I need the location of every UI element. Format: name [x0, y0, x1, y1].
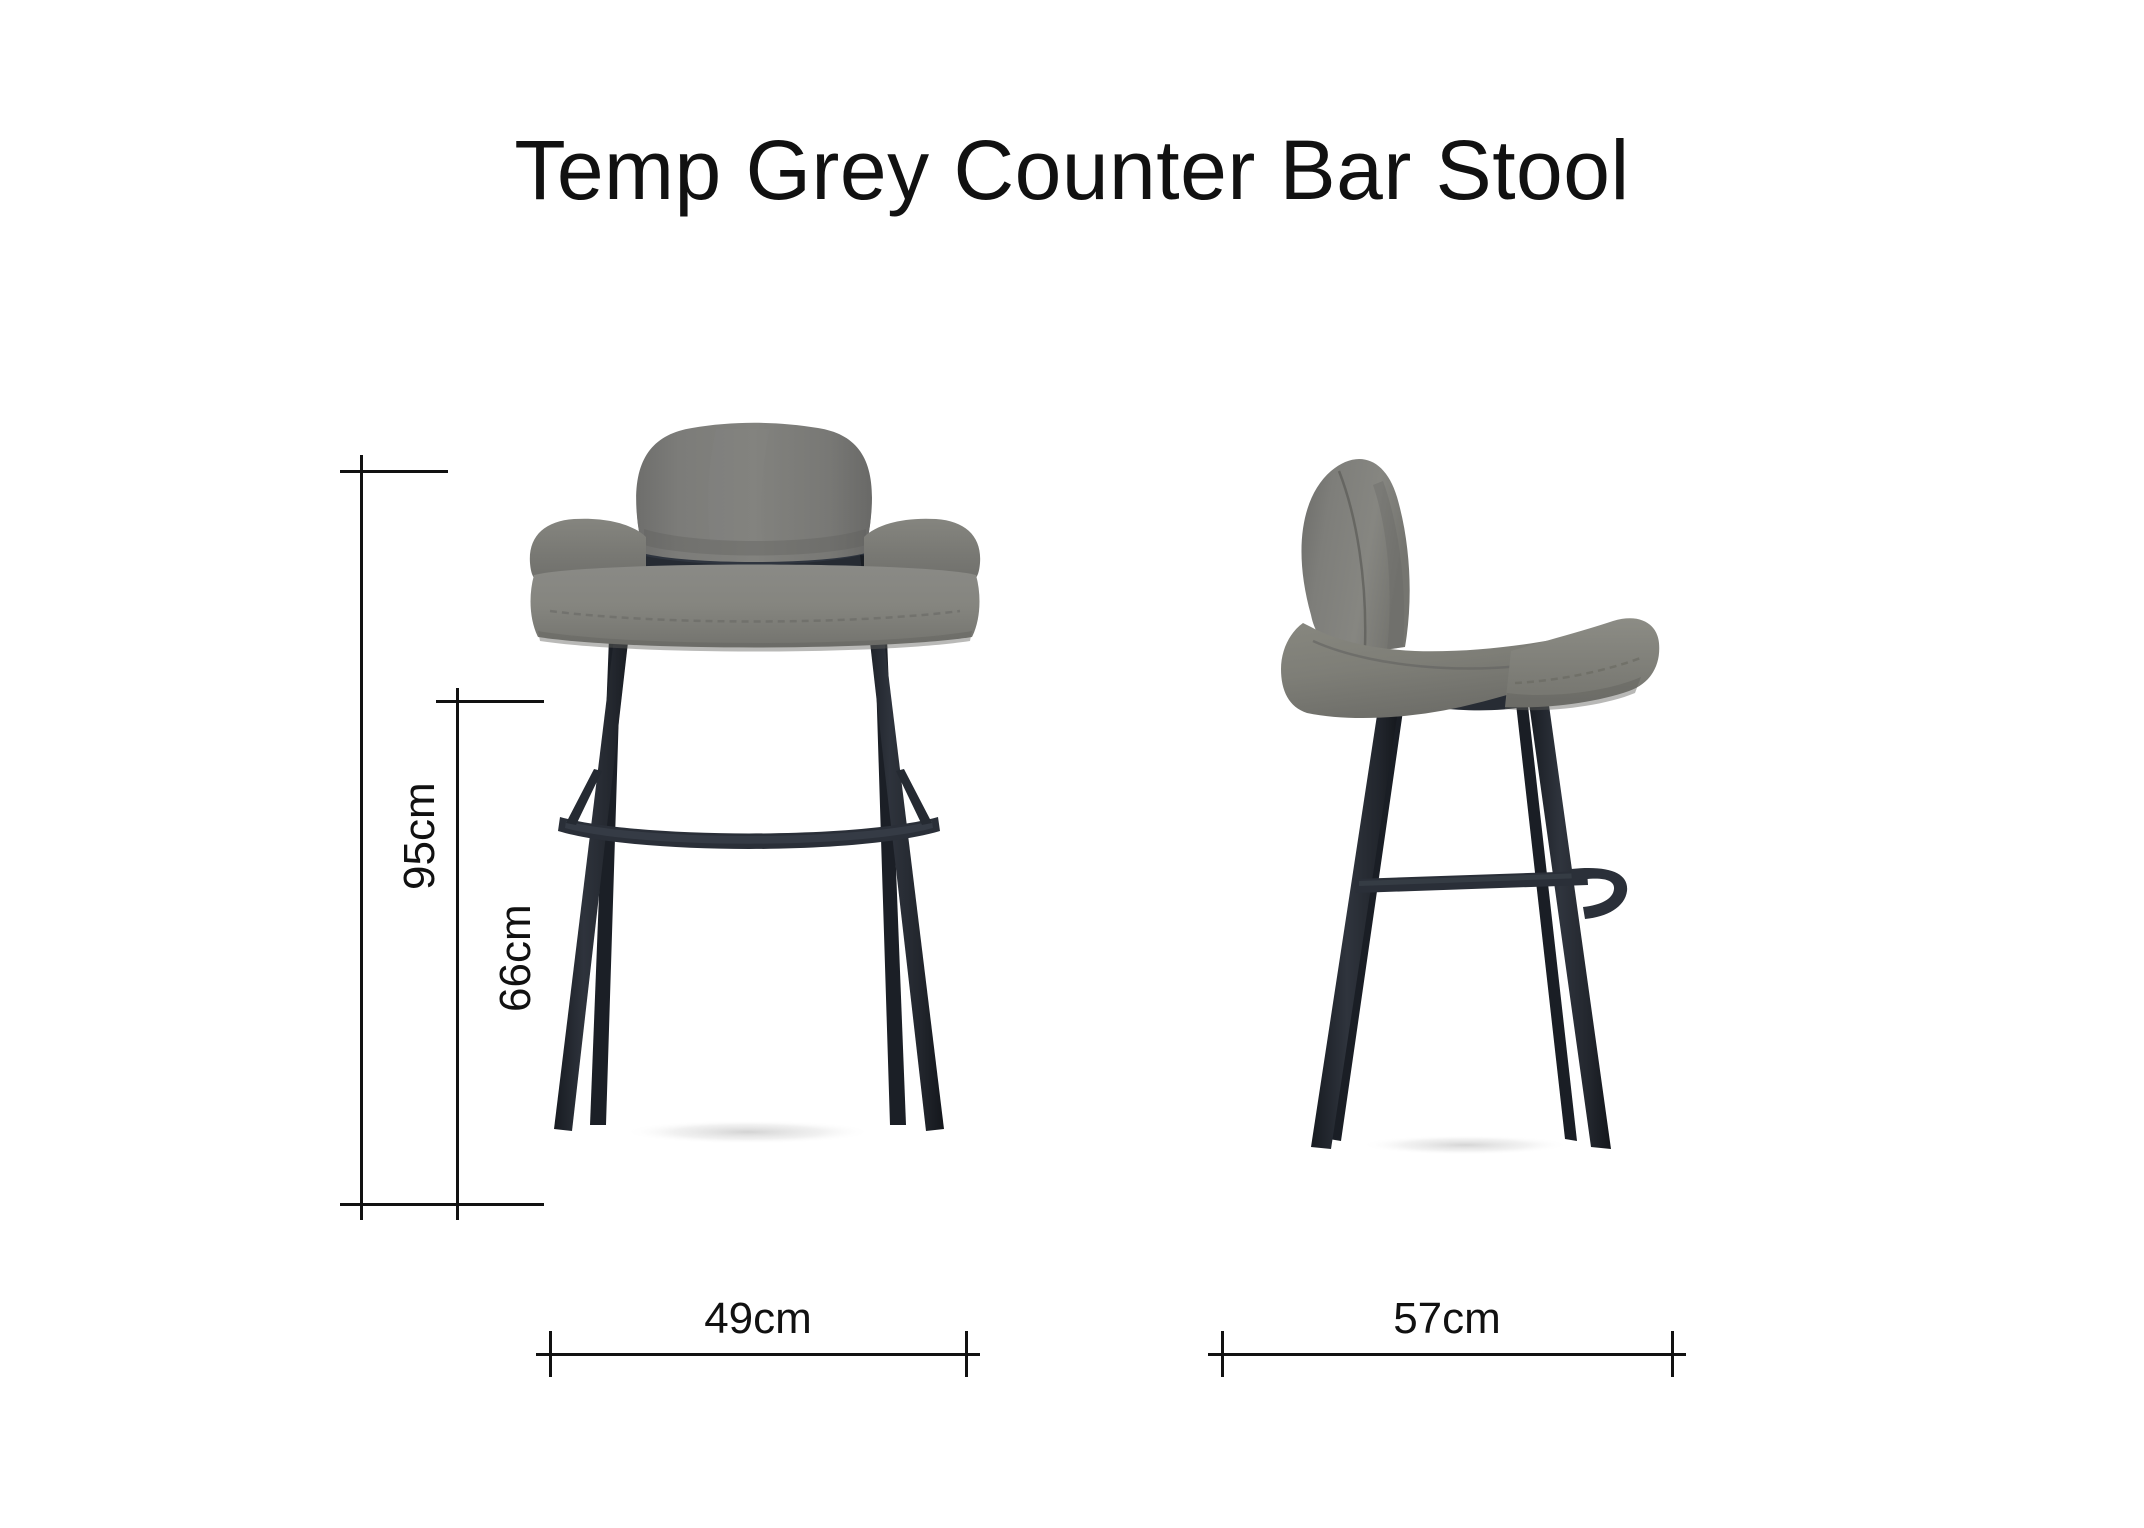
total-height-label: 95cm	[398, 782, 442, 890]
depth-dim-line	[1208, 1353, 1686, 1356]
seat-height-label: 66cm	[494, 904, 538, 1012]
front-view-stool-illustration	[520, 425, 990, 1215]
seat-height-top-tick	[436, 700, 544, 703]
seat-cushion	[531, 565, 980, 648]
total-height-bottom-tick	[340, 1203, 448, 1206]
total-height-dim-line	[360, 455, 363, 1220]
depth-label: 57cm	[1221, 1297, 1673, 1341]
seat-height-dim-line	[456, 688, 459, 1220]
side-view-stool-illustration	[1215, 455, 1695, 1215]
floor-shadow	[1361, 1135, 1569, 1155]
total-height-top-tick	[340, 470, 448, 473]
leg-front	[1311, 689, 1401, 1149]
width-label: 49cm	[549, 1297, 967, 1341]
footrest-loop-bracket	[1571, 868, 1627, 919]
seat-height-bottom-tick	[436, 1203, 544, 1206]
floor-shadow	[624, 1120, 872, 1144]
width-dim-line	[536, 1353, 980, 1356]
page-title: Temp Grey Counter Bar Stool	[0, 128, 2144, 212]
